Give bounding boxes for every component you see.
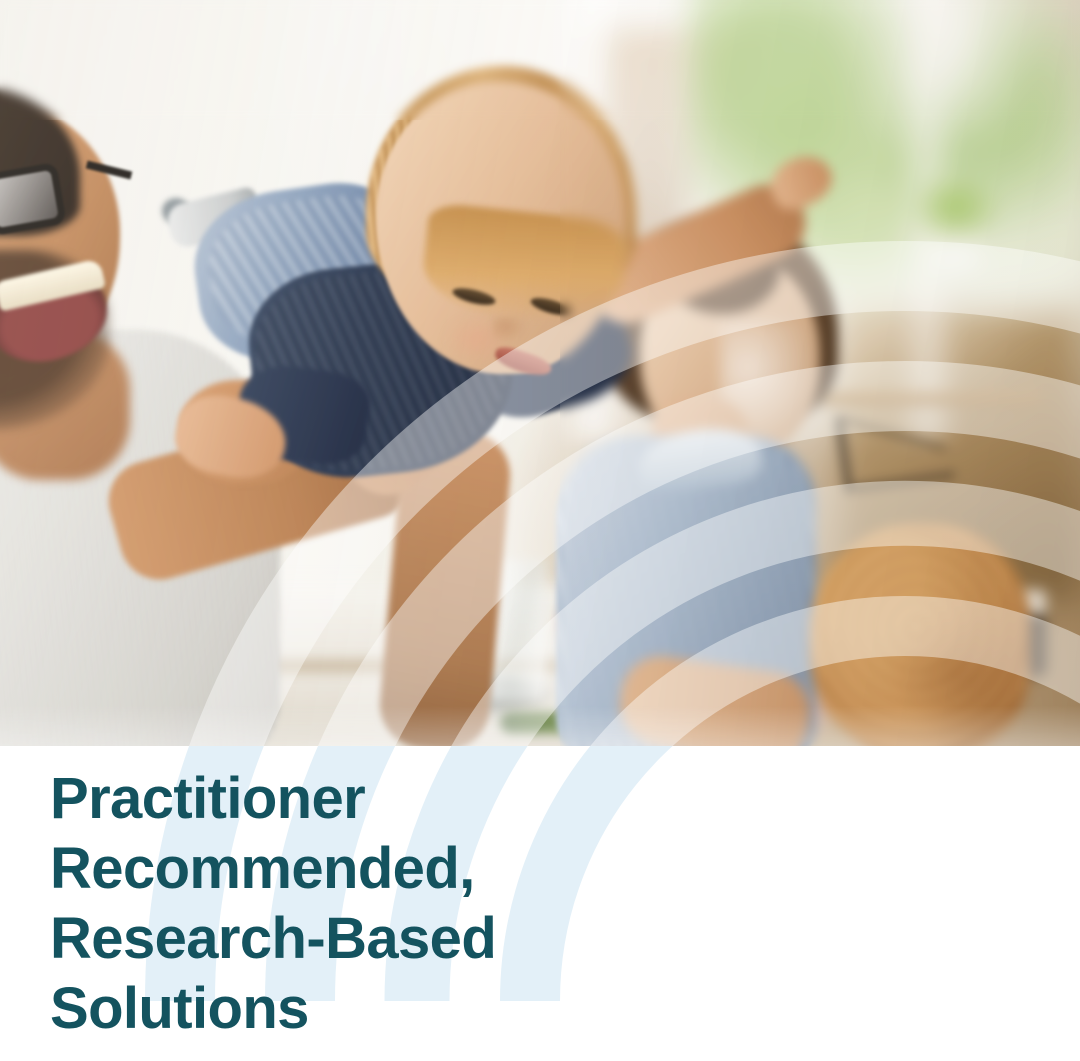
child-nose [492,316,526,342]
daughter-hair-curls [816,530,1026,746]
hero-photo [0,0,1080,746]
page-title: Practitioner Recommended, Research-Based… [50,764,670,1044]
promo-card: Practitioner Recommended, Research-Based… [0,0,1080,1061]
headline-panel: Practitioner Recommended, Research-Based… [0,746,1080,1061]
shelf-bracket [835,403,955,494]
eyeglasses-icon [0,160,102,226]
potted-plant-icon [900,180,1010,280]
